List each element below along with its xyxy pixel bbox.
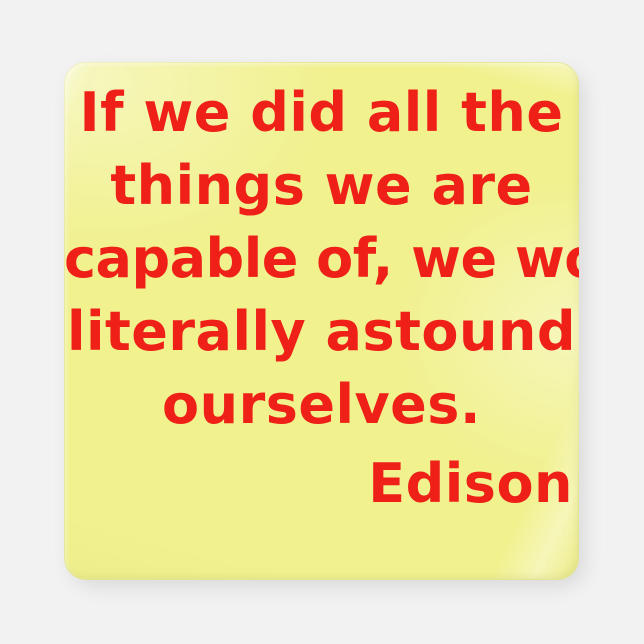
product-image-stage: If we did all the things we are capable … <box>0 0 644 644</box>
quote-line-1: If we did all the <box>64 76 579 149</box>
quote-attribution: Edison <box>64 441 579 520</box>
quote-text-block: If we did all the things we are capable … <box>64 62 579 580</box>
quote-line-2: things we are <box>64 149 579 222</box>
quote-line-5: ourselves. <box>64 368 579 441</box>
quote-line-3: capable of, we would <box>64 222 579 295</box>
quote-line-4: literally astound <box>64 295 579 368</box>
square-button-face: If we did all the things we are capable … <box>64 62 579 580</box>
